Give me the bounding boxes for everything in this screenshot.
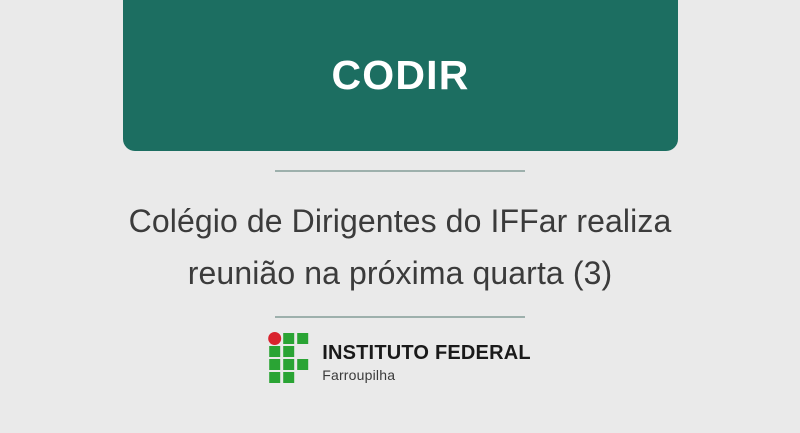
logo-square-icon: [283, 372, 294, 383]
banner-title: CODIR: [331, 55, 469, 96]
logo-wordmark: INSTITUTO FEDERAL Farroupilha: [322, 331, 531, 384]
announcement-card: CODIR Colégio de Dirigentes do IFFar rea…: [0, 0, 800, 433]
divider-top: [275, 170, 525, 172]
instituto-federal-logo: INSTITUTO FEDERAL Farroupilha: [269, 331, 531, 384]
banner: CODIR: [123, 0, 678, 151]
logo-square-icon: [269, 372, 280, 383]
logo-square-icon: [283, 333, 294, 344]
logo-square-icon: [269, 346, 280, 357]
divider-bottom: [275, 316, 525, 318]
logo-square-icon: [269, 359, 280, 370]
page-title-line-2: reunião na próxima quarta (3): [80, 248, 720, 300]
logo-square-icon: [297, 333, 308, 344]
logo-title: INSTITUTO FEDERAL: [322, 343, 531, 364]
logo-square-icon: [297, 359, 308, 370]
logo-square-icon: [283, 346, 294, 357]
logo-subtitle: Farroupilha: [322, 366, 531, 384]
logo-square-icon: [283, 359, 294, 370]
instituto-federal-logo-mark-icon: [269, 333, 311, 383]
page-title-line-1: Colégio de Dirigentes do IFFar realiza: [80, 196, 720, 248]
logo-red-dot-icon: [268, 332, 281, 345]
page-title: Colégio de Dirigentes do IFFar realiza r…: [80, 196, 720, 300]
